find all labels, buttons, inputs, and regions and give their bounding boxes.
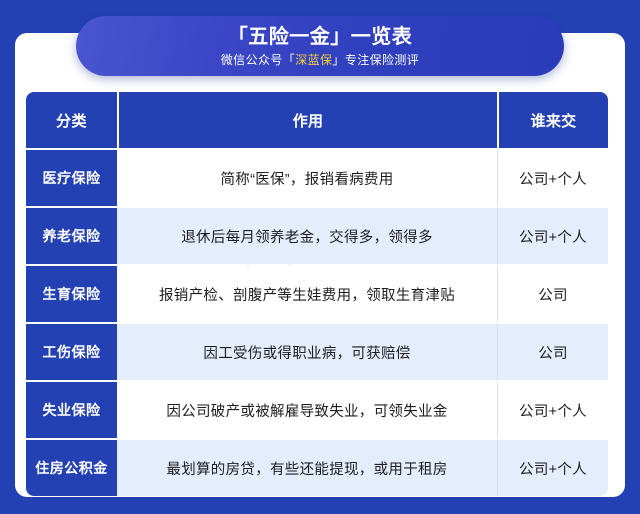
- cell-description: 最划算的房贷，有些还能提现，或用于租房: [117, 440, 497, 496]
- cell-category: 住房公积金: [26, 440, 117, 496]
- cell-payer: 公司+个人: [497, 208, 608, 264]
- page-title: 「五险一金」一览表: [228, 25, 413, 49]
- benefits-table: 分类 作用 谁来交 医疗保险 简称“医保”，报销看病费用 公司+个人 养老保险 …: [26, 92, 608, 496]
- column-header-purpose: 作用: [117, 92, 497, 148]
- cell-payer: 公司+个人: [497, 382, 608, 438]
- table-row: 生育保险 报销产检、剖腹产等生娃费用，领取生育津贴 公司: [26, 266, 608, 322]
- cell-category: 失业保险: [26, 382, 117, 438]
- table-row: 失业保险 因公司破产或被解雇导致失业，可领失业金 公司+个人: [26, 382, 608, 438]
- cell-description: 因工受伤或得职业病，可获赔偿: [117, 324, 497, 380]
- table-row: 住房公积金 最划算的房贷，有些还能提现，或用于租房 公司+个人: [26, 440, 608, 496]
- cell-payer: 公司: [497, 266, 608, 322]
- cell-description: 退休后每月领养老金，交得多，领得多: [117, 208, 497, 264]
- cell-category: 医疗保险: [26, 150, 117, 206]
- table-row: 养老保险 退休后每月领养老金，交得多，领得多 公司+个人: [26, 208, 608, 264]
- cell-description: 简称“医保”，报销看病费用: [117, 150, 497, 206]
- subtitle-suffix: 」专注保险测评: [332, 53, 419, 67]
- table-header-row: 分类 作用 谁来交: [26, 92, 608, 148]
- cell-category: 养老保险: [26, 208, 117, 264]
- column-header-category: 分类: [26, 92, 117, 148]
- cell-payer: 公司+个人: [497, 440, 608, 496]
- cell-category: 工伤保险: [26, 324, 117, 380]
- table-row: 医疗保险 简称“医保”，报销看病费用 公司+个人: [26, 150, 608, 206]
- title-banner: 「五险一金」一览表 微信公众号「深蓝保」专注保险测评: [76, 16, 564, 76]
- column-header-payer: 谁来交: [497, 92, 608, 148]
- cell-description: 因公司破产或被解雇导致失业，可领失业金: [117, 382, 497, 438]
- subtitle-prefix: 微信公众号「: [221, 53, 295, 67]
- cell-payer: 公司: [497, 324, 608, 380]
- page-subtitle: 微信公众号「深蓝保」专注保险测评: [221, 52, 419, 68]
- cell-category: 生育保险: [26, 266, 117, 322]
- cell-payer: 公司+个人: [497, 150, 608, 206]
- subtitle-brand: 深蓝保: [295, 53, 332, 67]
- infographic-screen: 深蓝保 shenlanbao.com 专业 | 诚信 「五险一金」一览表 微信公…: [0, 0, 640, 514]
- table-row: 工伤保险 因工受伤或得职业病，可获赔偿 公司: [26, 324, 608, 380]
- cell-description: 报销产检、剖腹产等生娃费用，领取生育津贴: [117, 266, 497, 322]
